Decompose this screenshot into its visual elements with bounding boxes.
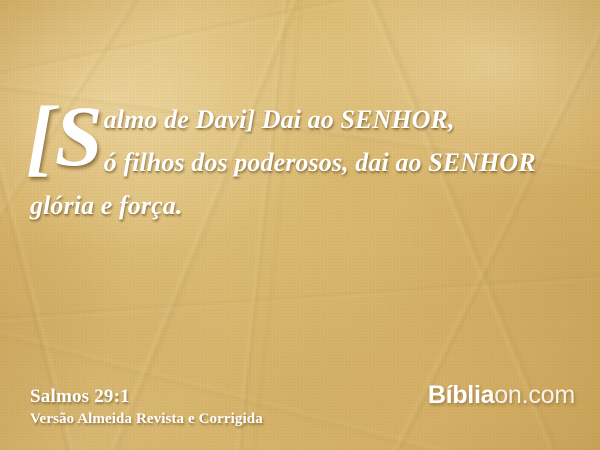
verse-line-2: ó filhos dos poderosos, dai ao SENHOR [30,141,578,184]
verse-line-1-text: almo de Davi] Dai ao SENHOR, [104,105,455,134]
logo-text-strong: Bíblia [428,381,494,409]
verse-translation: Versão Almeida Revista e Corrigida [30,409,263,430]
verse-text-block: [Salmo de Davi] Dai ao SENHOR, ó filhos … [30,98,578,227]
verse-reference: Salmos 29:1 [30,385,263,409]
verse-line-3: glória e força. [30,184,578,227]
bibliaon-logo[interactable]: Bíbliaon.com [428,383,575,408]
logo-text-light: on.com [494,381,575,409]
verse-footer: Salmos 29:1 Versão Almeida Revista e Cor… [30,385,263,430]
verse-line-1: [Salmo de Davi] Dai ao SENHOR, [30,98,578,141]
verse-dropcap: [S [26,100,103,172]
bible-verse-card: [Salmo de Davi] Dai ao SENHOR, ó filhos … [0,0,600,450]
